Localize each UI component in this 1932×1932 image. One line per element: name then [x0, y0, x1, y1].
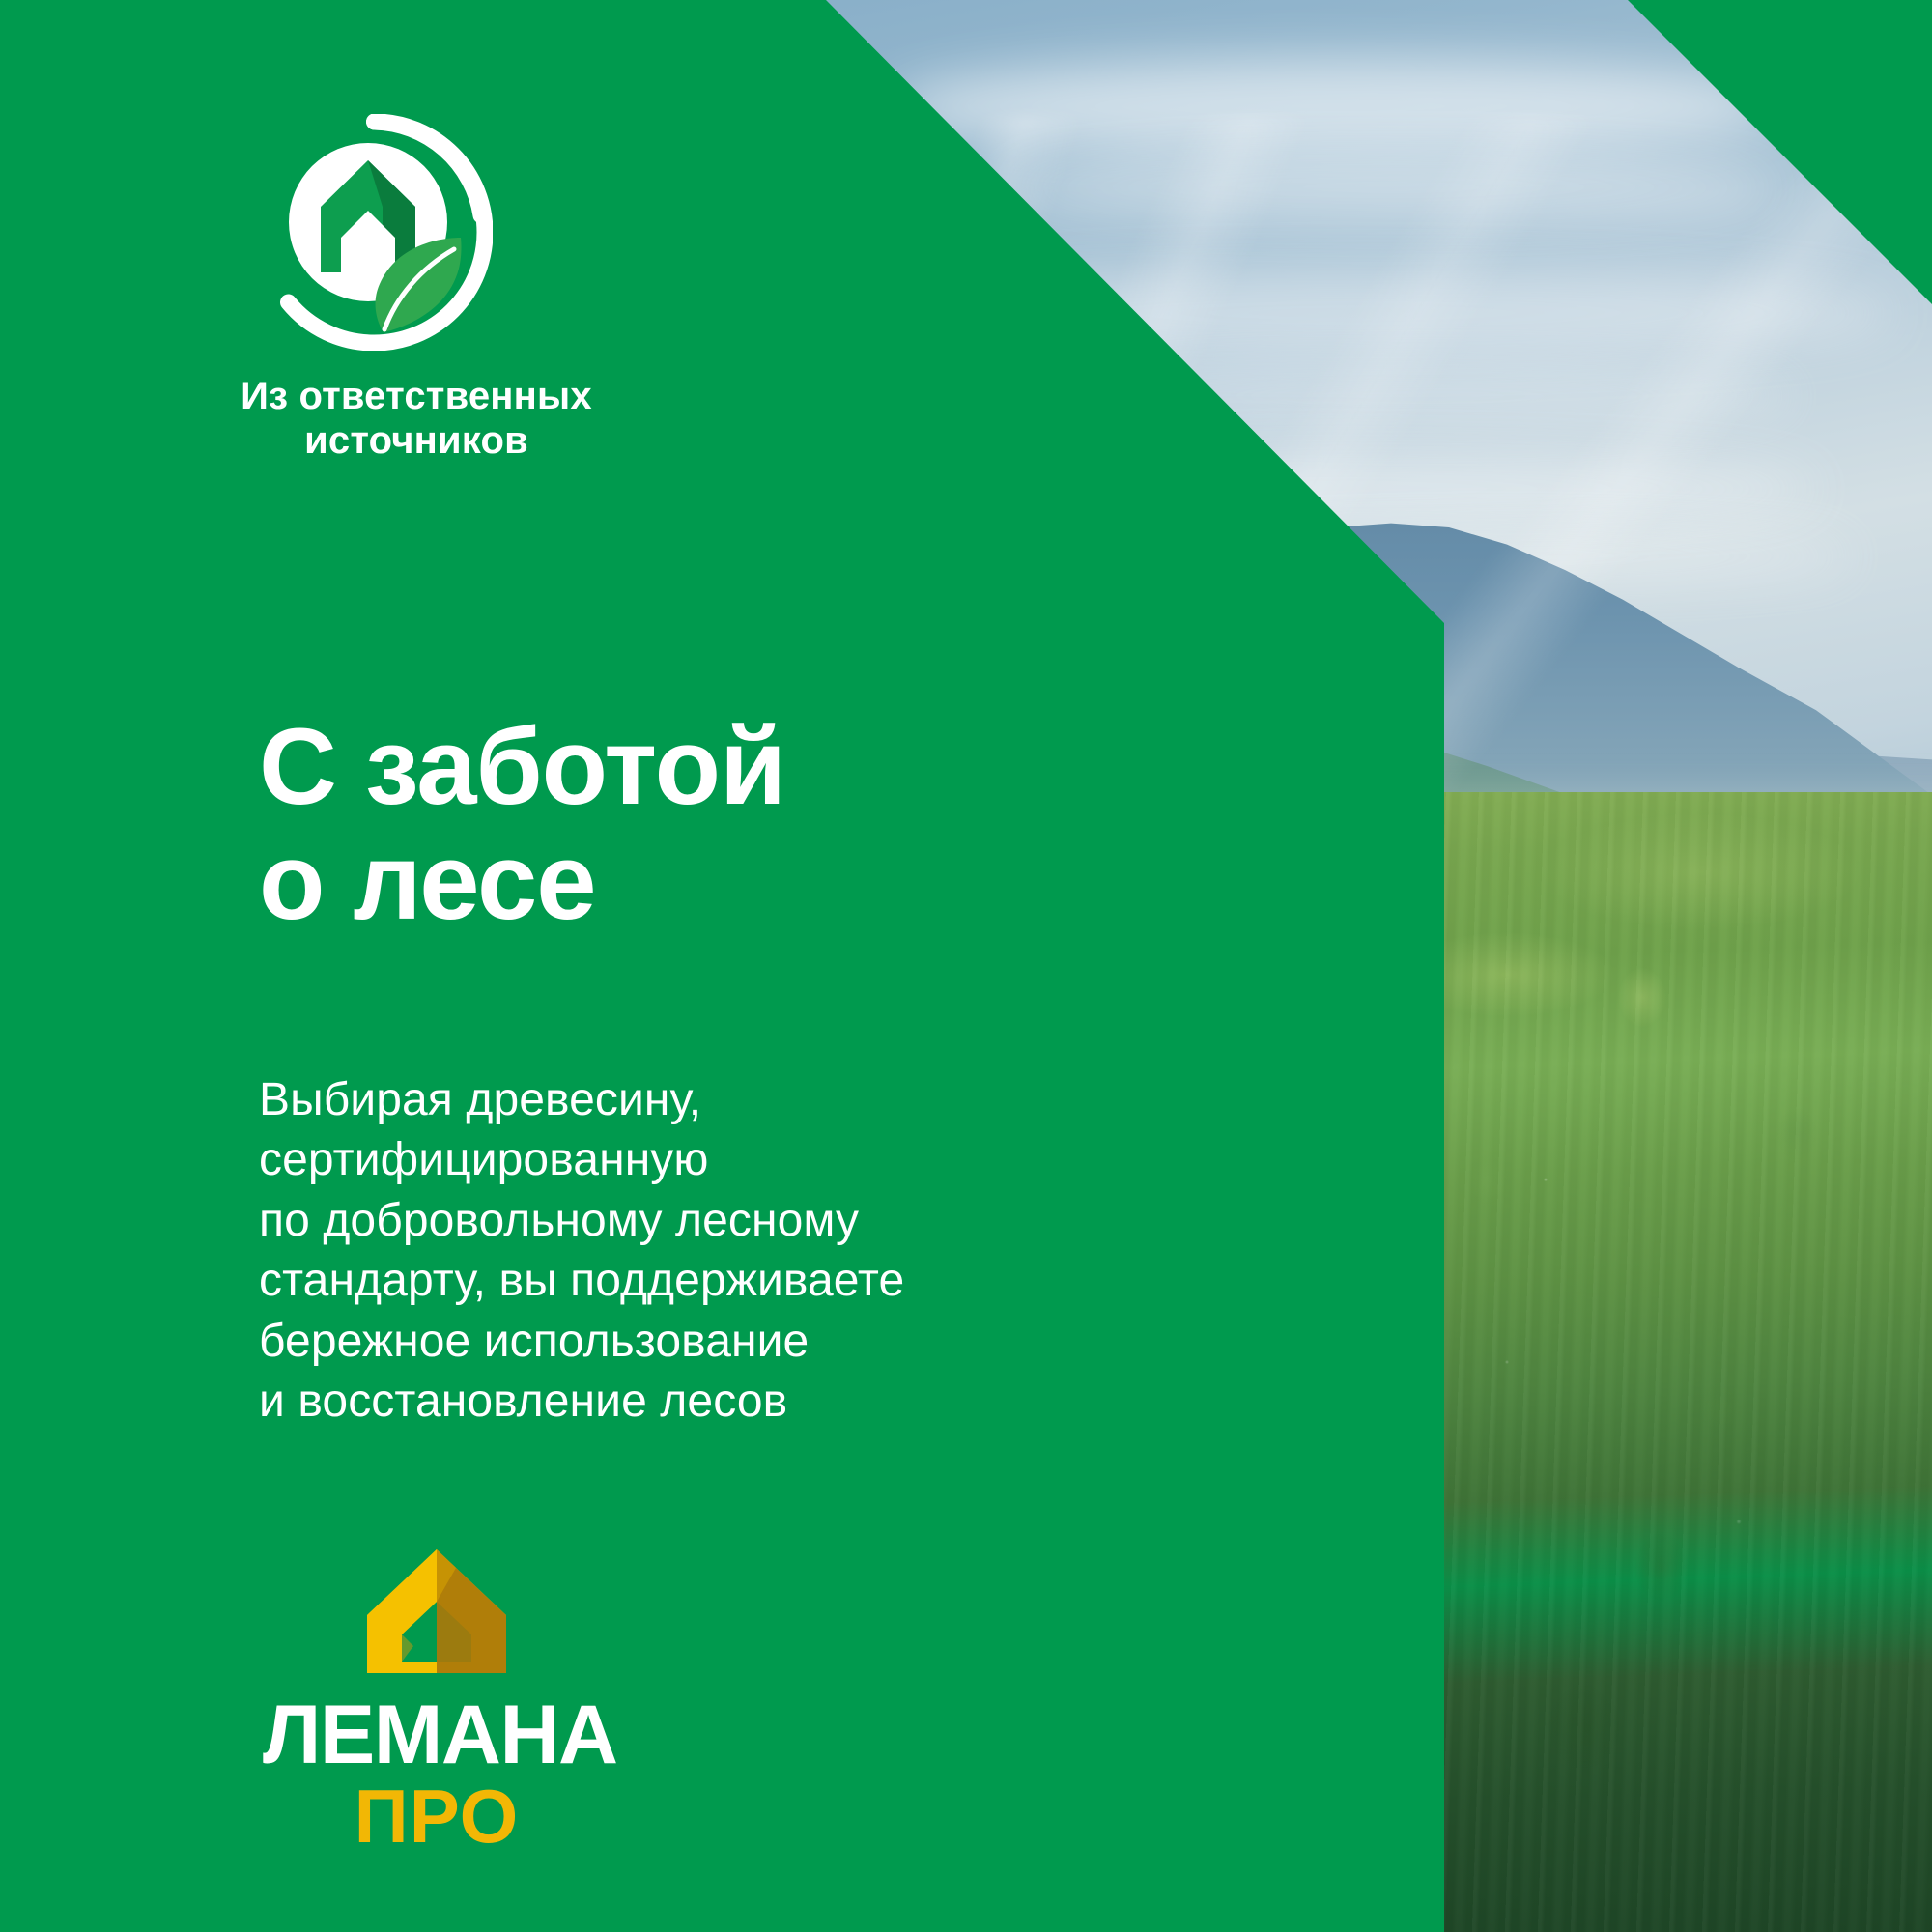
brand-lockup: ЛЕМАНА ПРО: [263, 1546, 611, 1856]
responsible-sources-badge: Из ответственных источников: [256, 114, 720, 464]
page-title: С заботой о лесе: [259, 710, 1051, 939]
brand-name: ЛЕМАНА: [263, 1694, 611, 1776]
lemana-house-logo-icon: [363, 1546, 510, 1677]
responsible-sources-seal-icon: [256, 114, 493, 351]
body-copy: Выбирая древесину, сертифицированную по …: [259, 1070, 1051, 1432]
poster-root: Из ответственных источников С заботой о …: [0, 0, 1932, 1932]
brand-sub: ПРО: [263, 1777, 611, 1856]
badge-caption: Из ответственных источников: [213, 374, 619, 464]
